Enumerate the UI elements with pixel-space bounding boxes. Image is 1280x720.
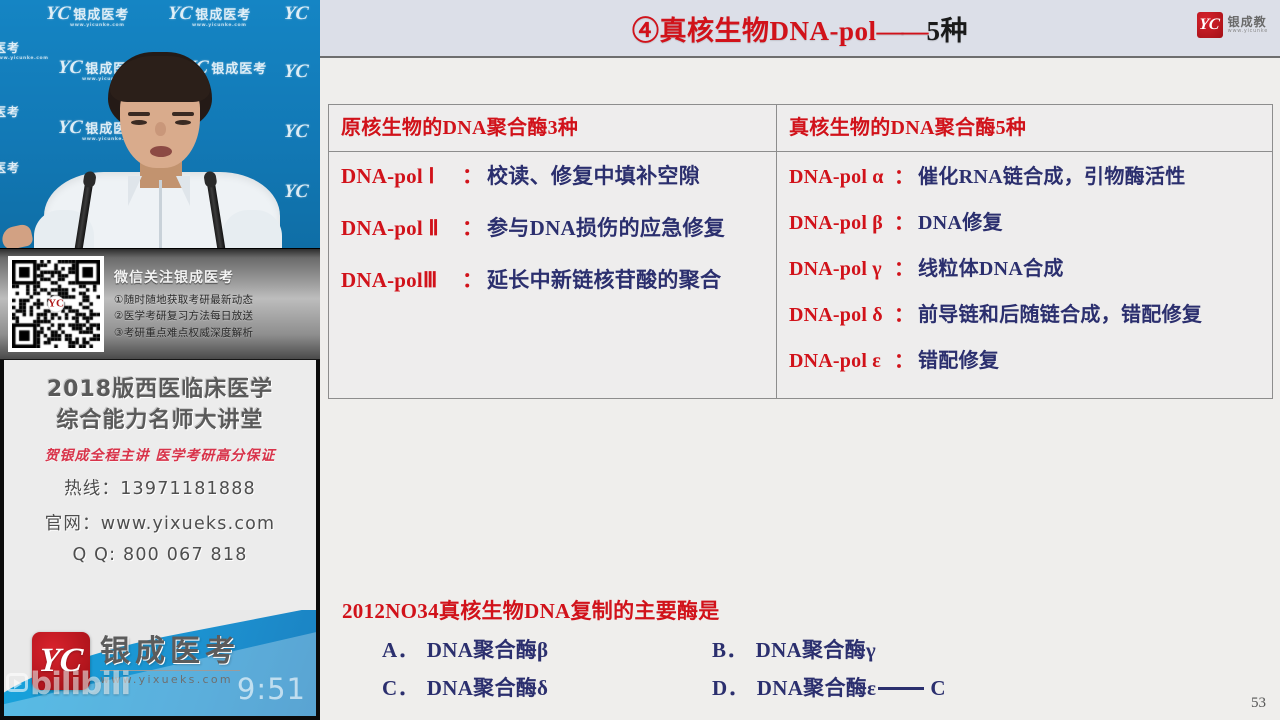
table-body-row: DNA-pol Ⅰ：校读、修复中填补空隙 DNA-pol Ⅱ：参与DNA损伤的应… — [329, 152, 1273, 399]
wechat-qr-banner: YC 微信关注银成医考 ①随时随地获取考研最新动态 ②医学考研复习方法每日放送 … — [0, 248, 320, 360]
slide-title-suffix: 5种 — [927, 16, 969, 46]
slide-title-dash: —— — [877, 16, 927, 46]
qr-title: 微信关注银成医考 — [114, 267, 312, 287]
table-header-row: 原核生物的DNA聚合酶3种 真核生物的DNA聚合酶5种 — [329, 105, 1273, 152]
option-a[interactable]: A．DNA聚合酶β — [382, 634, 712, 664]
promo-title-line2: 综合能力名师大讲堂 — [4, 405, 316, 436]
page-number: 53 — [1251, 695, 1266, 712]
header-prokaryotic: 原核生物的DNA聚合酶3种 — [341, 113, 764, 143]
enzyme-entry: DNA-pol Ⅱ：参与DNA损伤的应急修复 — [341, 212, 764, 242]
enzyme-entry: DNA-pol α：催化RNA链合成，引物酶活性 — [789, 160, 1260, 189]
option-d[interactable]: D．DNA聚合酶εC — [712, 672, 1042, 702]
enzyme-entry: DNA-polⅢ：延长中新链核苷酸的聚合 — [341, 264, 764, 294]
slide-area: ④真核生物DNA-pol——5种 YC 银成教 www.yicunke 原核生物… — [320, 0, 1280, 720]
webcam-feed[interactable]: YC银成医考 www.yicunke.com YC银成医考 www.yicunk… — [0, 0, 320, 248]
slide-title: ④真核生物DNA-pol——5种 — [320, 9, 1280, 48]
qr-code[interactable]: YC — [8, 256, 104, 352]
exam-question: 2012NO34真核生物DNA复制的主要酶是 A．DNA聚合酶β B．DNA聚合… — [342, 595, 1242, 702]
promo-hotline: 热线：13971181888 — [4, 475, 316, 500]
enzyme-entry: DNA-pol δ：前导链和后随链合成，错配修复 — [789, 298, 1260, 327]
qr-benefit-2: ②医学考研复习方法每日放送 — [114, 308, 312, 324]
promo-website: 官网：www.yixueks.com — [4, 510, 316, 535]
option-c[interactable]: C．DNA聚合酶δ — [382, 672, 712, 702]
promo-title-line1: 2018版西医临床医学 — [4, 374, 316, 405]
video-panel: YC银成医考 www.yicunke.com YC银成医考 www.yicunk… — [0, 0, 320, 720]
slide-header: ④真核生物DNA-pol——5种 YC 银成教 www.yicunke — [320, 0, 1280, 58]
brand-footer: YC 银成医考 www.yixueks.com bilibili 9:51 — [0, 610, 320, 720]
promo-qq: Q Q: 800 067 818 — [4, 545, 316, 565]
qr-center-logo: YC — [48, 296, 65, 313]
slide-brand-logo: YC 银成教 www.yicunke — [1197, 12, 1268, 38]
brand-mark-icon: YC — [1197, 12, 1223, 38]
lecturer-figure — [0, 0, 320, 248]
screen-root: YC银成医考 www.yicunke.com YC银成医考 www.yicunk… — [0, 0, 1280, 720]
bilibili-watermark: bilibili — [30, 666, 130, 702]
enzyme-entry: DNA-pol ε：错配修复 — [789, 344, 1260, 373]
enzyme-entry: DNA-pol Ⅰ：校读、修复中填补空隙 — [341, 160, 764, 190]
table-cell-eukaryotic-list: DNA-pol α：催化RNA链合成，引物酶活性 DNA-pol β：DNA修复… — [777, 152, 1273, 399]
answer-connector-line — [878, 687, 924, 690]
question-stem: 2012NO34真核生物DNA复制的主要酶是 — [342, 595, 1242, 625]
enzyme-entry: DNA-pol γ：线粒体DNA合成 — [789, 252, 1260, 281]
table-header-cell-prokaryotic: 原核生物的DNA聚合酶3种 — [329, 105, 777, 152]
answer-letter: C — [930, 676, 945, 700]
enzyme-entry: DNA-pol β：DNA修复 — [789, 206, 1260, 235]
bilibili-tv-icon — [6, 673, 28, 692]
option-b[interactable]: B．DNA聚合酶γ — [712, 634, 1042, 664]
header-eukaryotic: 真核生物的DNA聚合酶5种 — [789, 113, 1260, 143]
table-header-cell-eukaryotic: 真核生物的DNA聚合酶5种 — [777, 105, 1273, 152]
brand-name: 银成医考 — [100, 637, 240, 667]
qr-benefit-3: ③考研重点难点权威深度解析 — [114, 325, 312, 341]
promo-panel: 2018版西医临床医学 综合能力名师大讲堂 贺银成全程主讲 医学考研高分保证 热… — [0, 360, 320, 610]
slide-title-prefix: ④真核生物DNA-pol — [632, 16, 877, 46]
brand-mark-url: www.yicunke — [1228, 29, 1268, 34]
table-cell-prokaryotic-list: DNA-pol Ⅰ：校读、修复中填补空隙 DNA-pol Ⅱ：参与DNA损伤的应… — [329, 152, 777, 399]
polymerase-comparison-table: 原核生物的DNA聚合酶3种 真核生物的DNA聚合酶5种 DNA-pol Ⅰ：校读… — [328, 104, 1273, 399]
qr-benefit-1: ①随时随地获取考研最新动态 — [114, 292, 312, 308]
option-row-1: A．DNA聚合酶β B．DNA聚合酶γ — [342, 634, 1242, 664]
brand-mark-name: 银成教 — [1228, 16, 1268, 29]
playback-time: 9:51 — [237, 672, 306, 706]
option-row-2: C．DNA聚合酶δ D．DNA聚合酶εC — [342, 672, 1242, 702]
promo-slogan: 贺银成全程主讲 医学考研高分保证 — [4, 445, 316, 465]
